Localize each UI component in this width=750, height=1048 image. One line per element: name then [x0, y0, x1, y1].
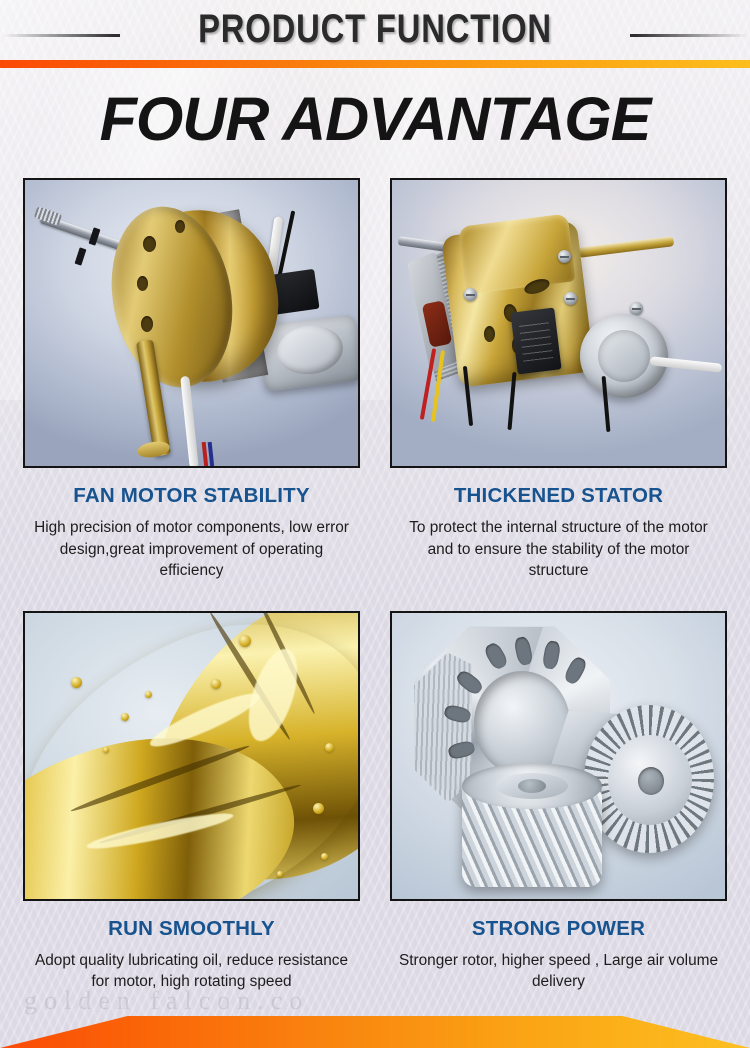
page-header: PRODUCT FUNCTION — [0, 0, 750, 70]
stator-screw — [558, 250, 571, 263]
stator-capacitor — [510, 308, 561, 375]
card-description: To protect the internal structure of the… — [390, 517, 727, 582]
oil-droplet — [211, 679, 221, 689]
motor-vent-hole — [175, 220, 185, 233]
header-title: PRODUCT FUNCTION — [68, 6, 683, 52]
stator-screw — [564, 292, 577, 305]
page-title: FOUR ADVANTAGE — [0, 86, 750, 152]
oil-droplet — [313, 803, 324, 814]
card-image-fan-motor — [23, 178, 360, 468]
advantages-grid: FAN MOTOR STABILITY High precision of mo… — [0, 178, 750, 993]
advantage-card-thickened-stator: THICKENED STATOR To protect the internal… — [390, 178, 727, 582]
stator-screw — [630, 302, 643, 315]
oil-droplet — [325, 743, 334, 752]
advantages-row-1: FAN MOTOR STABILITY High precision of mo… — [0, 178, 750, 582]
card-title: STRONG POWER — [390, 917, 727, 941]
oil-droplet — [103, 747, 109, 753]
motor-vent-hole — [137, 276, 148, 291]
oil-droplet — [321, 853, 328, 860]
header-gradient-bar — [0, 60, 750, 68]
advantage-card-strong-power: STRONG POWER Stronger rotor, higher spee… — [390, 611, 727, 993]
card-image-rotor-laminations — [390, 611, 727, 901]
helical-rotor-hub — [518, 779, 546, 793]
card-title: FAN MOTOR STABILITY — [23, 484, 360, 508]
oil-droplet — [239, 635, 251, 647]
card-title: RUN SMOOTHLY — [23, 917, 360, 941]
oil-droplet — [277, 871, 283, 877]
motor-vent-hole — [143, 236, 156, 252]
rotor-shaft-hole — [638, 767, 664, 795]
card-description: High precision of motor components, low … — [23, 517, 360, 582]
site-watermark: golden falcon.co — [24, 986, 309, 1016]
stator-screw — [464, 288, 477, 301]
advantages-row-2: RUN SMOOTHLY Adopt quality lubricating o… — [0, 611, 750, 993]
card-image-lubricating-oil — [23, 611, 360, 901]
oil-droplet — [145, 691, 152, 698]
card-title: THICKENED STATOR — [390, 484, 727, 508]
stator-gearbox-face — [598, 330, 650, 382]
card-image-thickened-stator — [390, 178, 727, 468]
product-function-page: PRODUCT FUNCTION FOUR ADVANTAGE — [0, 0, 750, 1048]
advantage-card-run-smoothly: RUN SMOOTHLY Adopt quality lubricating o… — [23, 611, 360, 993]
motor-vent-hole — [141, 316, 153, 332]
advantage-card-fan-motor-stability: FAN MOTOR STABILITY High precision of mo… — [23, 178, 360, 582]
oil-droplet — [121, 713, 129, 721]
card-description: Stronger rotor, higher speed , Large air… — [390, 950, 727, 993]
stator-vent-slot — [484, 326, 495, 342]
oil-droplet — [71, 677, 82, 688]
footer-gradient-shape — [0, 1016, 750, 1048]
